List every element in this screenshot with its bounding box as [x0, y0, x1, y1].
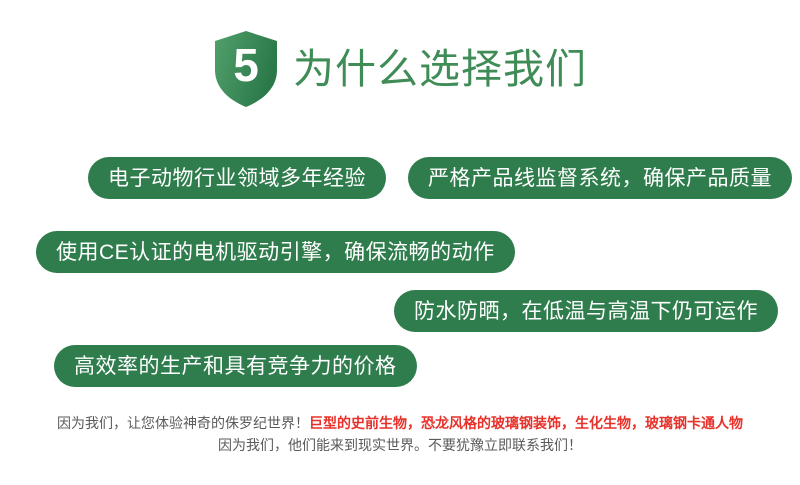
- feature-pill-quality: 严格产品线监督系统，确保产品质量: [408, 157, 792, 199]
- footer-line-1: 因为我们，让您体验神奇的侏罗纪世界！巨型的史前生物，恐龙风格的玻璃钢装饰，生化生…: [0, 412, 800, 434]
- shield-icon: 5: [213, 30, 279, 108]
- feature-pill-experience: 电子动物行业领域多年经验: [88, 157, 386, 199]
- shield-number: 5: [213, 30, 279, 108]
- footer-line-1-highlight: 巨型的史前生物，恐龙风格的玻璃钢装饰，生化生物，玻璃钢卡通人物: [309, 415, 743, 431]
- page-title: 为什么选择我们: [293, 49, 587, 90]
- footer-line-2: 因为我们，他们能来到现实世界。不要犹豫立即联系我们！: [0, 434, 800, 456]
- footer-line-1-prefix: 因为我们，让您体验神奇的侏罗纪世界！: [57, 415, 309, 431]
- feature-pill-weatherproof: 防水防晒，在低温与高温下仍可运作: [394, 290, 778, 332]
- feature-pill-price: 高效率的生产和具有竞争力的价格: [54, 345, 417, 387]
- section-header: 5 为什么选择我们: [0, 24, 800, 114]
- footer-text: 因为我们，让您体验神奇的侏罗纪世界！巨型的史前生物，恐龙风格的玻璃钢装饰，生化生…: [0, 412, 800, 456]
- promo-page: 5 为什么选择我们 电子动物行业领域多年经验 严格产品线监督系统，确保产品质量 …: [0, 0, 800, 485]
- feature-pill-ce-motor: 使用CE认证的电机驱动引擎，确保流畅的动作: [36, 231, 515, 273]
